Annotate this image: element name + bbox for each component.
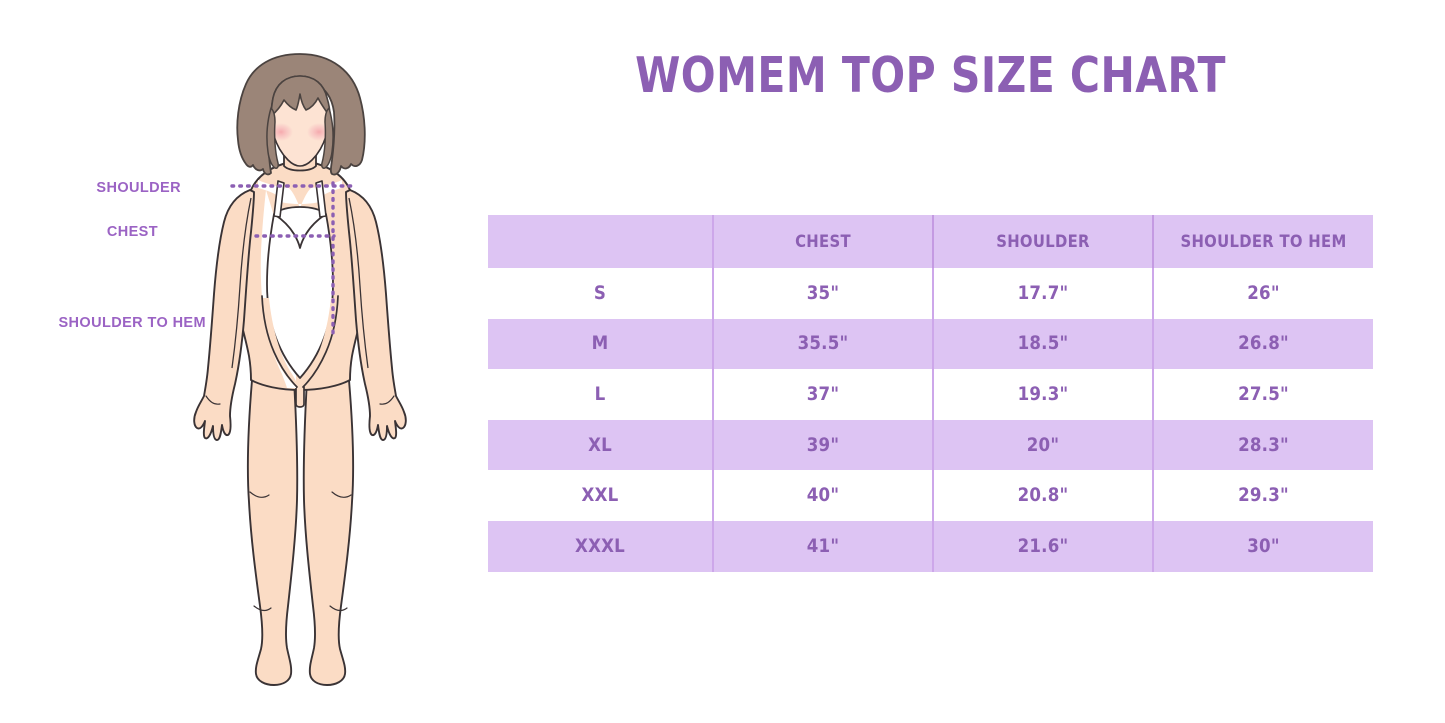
cell-shoulder-to-hem: 29.3" xyxy=(1153,470,1373,521)
cell-shoulder: 19.3" xyxy=(933,369,1153,420)
column-header-shoulder: SHOULDER xyxy=(933,215,1153,268)
cell-shoulder-to-hem: 26" xyxy=(1153,268,1373,319)
cell-shoulder: 20.8" xyxy=(933,470,1153,521)
cell-size: M xyxy=(488,319,713,370)
cell-shoulder-to-hem: 26.8" xyxy=(1153,319,1373,370)
cell-chest: 37" xyxy=(713,369,933,420)
figure-body-group xyxy=(194,54,406,685)
cell-shoulder-to-hem: 28.3" xyxy=(1153,420,1373,471)
cell-size: S xyxy=(488,268,713,319)
cell-shoulder-to-hem: 30" xyxy=(1153,521,1373,572)
cell-shoulder: 21.6" xyxy=(933,521,1153,572)
table-row: S 35" 17.7" 26" xyxy=(488,268,1373,319)
cell-chest: 39" xyxy=(713,420,933,471)
cell-shoulder: 17.7" xyxy=(933,268,1153,319)
table-row: XXXL 41" 21.6" 30" xyxy=(488,521,1373,572)
column-header-chest: CHEST xyxy=(713,215,933,268)
page-title: WOMEM TOP SIZE CHART xyxy=(519,48,1342,104)
cell-size: XXL xyxy=(488,470,713,521)
cell-chest: 35.5" xyxy=(713,319,933,370)
size-chart-table-container: CHEST SHOULDER SHOULDER TO HEM S 35" 17.… xyxy=(488,215,1373,569)
table-row: L 37" 19.3" 27.5" xyxy=(488,369,1373,420)
column-header-shoulder-to-hem: SHOULDER TO HEM xyxy=(1153,215,1373,268)
cell-size: XL xyxy=(488,420,713,471)
cell-size: L xyxy=(488,369,713,420)
table-body: S 35" 17.7" 26" M 35.5" 18.5" 26.8" L 37… xyxy=(488,268,1373,572)
cell-chest: 35" xyxy=(713,268,933,319)
cell-shoulder-to-hem: 27.5" xyxy=(1153,369,1373,420)
size-chart-table: CHEST SHOULDER SHOULDER TO HEM S 35" 17.… xyxy=(488,215,1373,572)
cell-shoulder: 20" xyxy=(933,420,1153,471)
cell-shoulder: 18.5" xyxy=(933,319,1153,370)
table-row: XXL 40" 20.8" 29.3" xyxy=(488,470,1373,521)
table-row: XL 39" 20" 28.3" xyxy=(488,420,1373,471)
cell-chest: 40" xyxy=(713,470,933,521)
head-group xyxy=(237,54,365,175)
body-figure-illustration xyxy=(150,40,470,690)
table-row: M 35.5" 18.5" 26.8" xyxy=(488,319,1373,370)
cell-chest: 41" xyxy=(713,521,933,572)
table-header-row: CHEST SHOULDER SHOULDER TO HEM xyxy=(488,215,1373,268)
column-header-size xyxy=(488,215,713,268)
cell-size: XXXL xyxy=(488,521,713,572)
table-header: CHEST SHOULDER SHOULDER TO HEM xyxy=(488,215,1373,268)
